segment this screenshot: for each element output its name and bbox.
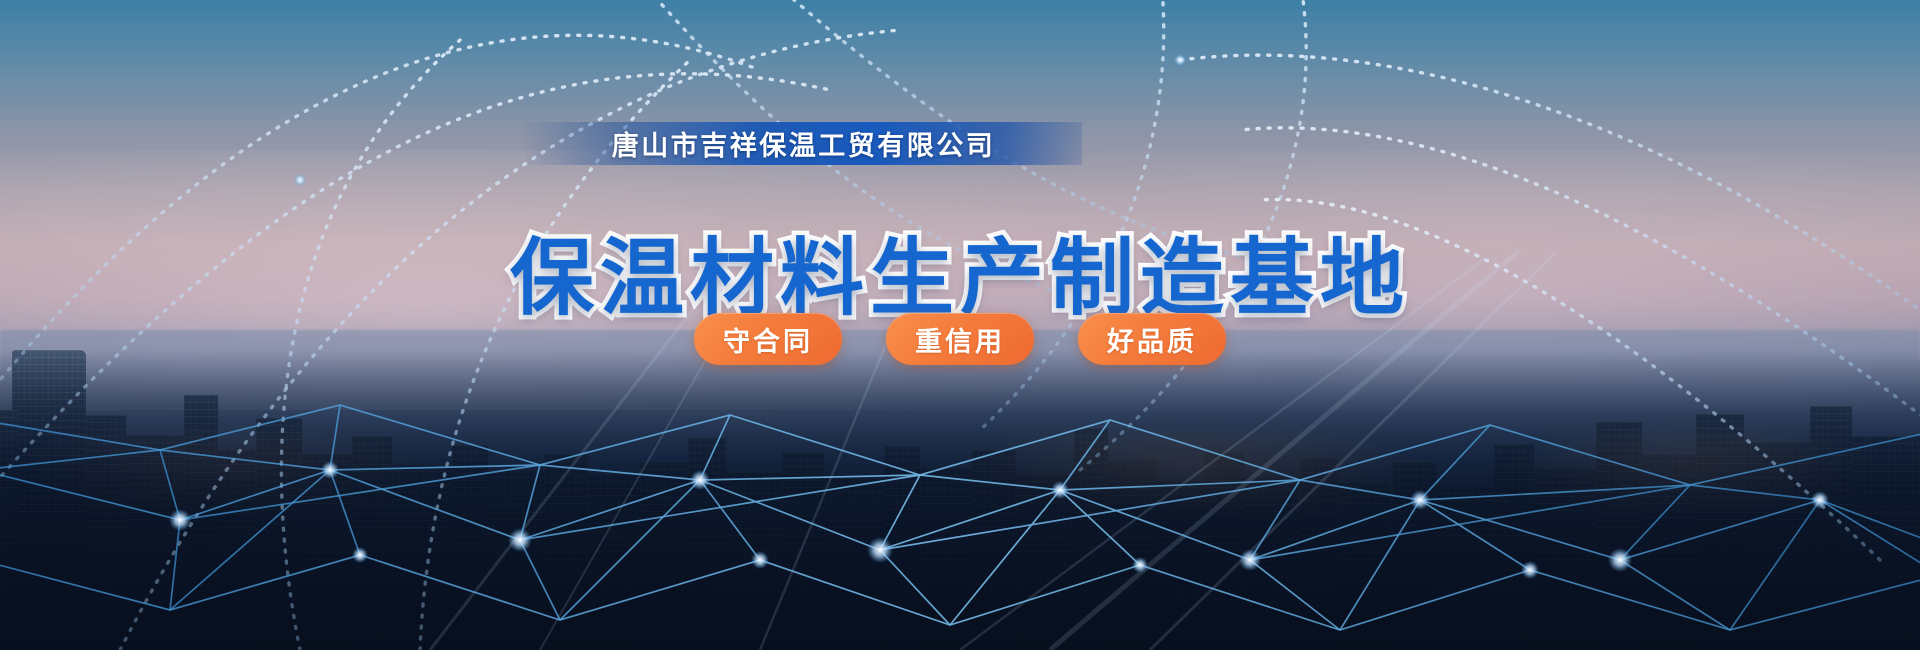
company-name-bar: 唐山市吉祥保温工贸有限公司 xyxy=(525,122,1082,165)
badge-hao-pin-zhi[interactable]: 好品质 xyxy=(1078,313,1226,365)
banner-headline: 保温材料生产制造基地 xyxy=(0,234,1920,322)
badge-label: 好品质 xyxy=(1107,320,1197,359)
badge-shou-he-tong[interactable]: 守合同 xyxy=(694,313,842,365)
badge-label: 守合同 xyxy=(723,320,813,359)
badge-label: 重信用 xyxy=(915,320,1005,359)
company-name-text: 唐山市吉祥保温工贸有限公司 xyxy=(612,124,996,163)
badge-zhong-xin-yong[interactable]: 重信用 xyxy=(886,313,1034,365)
badge-list: 守合同 重信用 好品质 xyxy=(0,313,1920,365)
banner-content: 唐山市吉祥保温工贸有限公司 保温材料生产制造基地 守合同 重信用 好品质 xyxy=(0,0,1920,650)
hero-banner: 唐山市吉祥保温工贸有限公司 保温材料生产制造基地 守合同 重信用 好品质 xyxy=(0,0,1920,650)
